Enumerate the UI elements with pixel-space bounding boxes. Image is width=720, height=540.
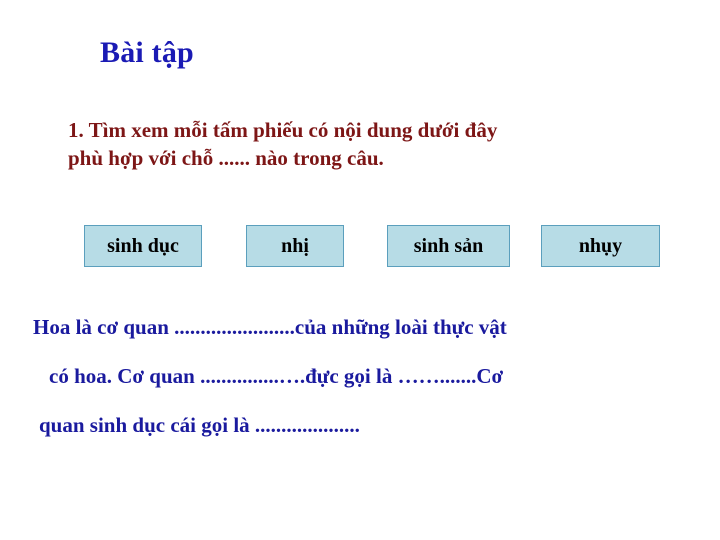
- paragraph-line-3: quan sinh dục cái gọi là ...............…: [39, 414, 688, 437]
- word-card-label: sinh sản: [414, 235, 484, 258]
- instruction-line-1: 1. Tìm xem mỗi tấm phiếu có nội dung dướ…: [68, 116, 668, 144]
- word-card-sinh-san[interactable]: sinh sản: [387, 225, 510, 267]
- word-card-label: sinh dục: [107, 235, 179, 258]
- instruction-line-2: phù hợp với chỗ ...... nào trong câu.: [68, 144, 668, 172]
- word-card-nhi[interactable]: nhị: [246, 225, 344, 267]
- page-title: Bài tập: [100, 36, 194, 70]
- slide-canvas: Bài tập 1. Tìm xem mỗi tấm phiếu có nội …: [0, 0, 720, 540]
- paragraph-line-2: có hoa. Cơ quan ...............….đực gọi…: [49, 365, 688, 388]
- word-card-row: sinh dục nhị sinh sản nhụy: [0, 225, 720, 269]
- word-card-label: nhị: [281, 235, 309, 258]
- instruction-text: 1. Tìm xem mỗi tấm phiếu có nội dung dướ…: [68, 116, 668, 173]
- paragraph-line-1: Hoa là cơ quan .......................củ…: [33, 316, 688, 339]
- fill-in-paragraph: Hoa là cơ quan .......................củ…: [33, 316, 688, 463]
- word-card-sinh-duc[interactable]: sinh dục: [84, 225, 202, 267]
- word-card-nhuy[interactable]: nhụy: [541, 225, 660, 267]
- word-card-label: nhụy: [579, 235, 622, 258]
